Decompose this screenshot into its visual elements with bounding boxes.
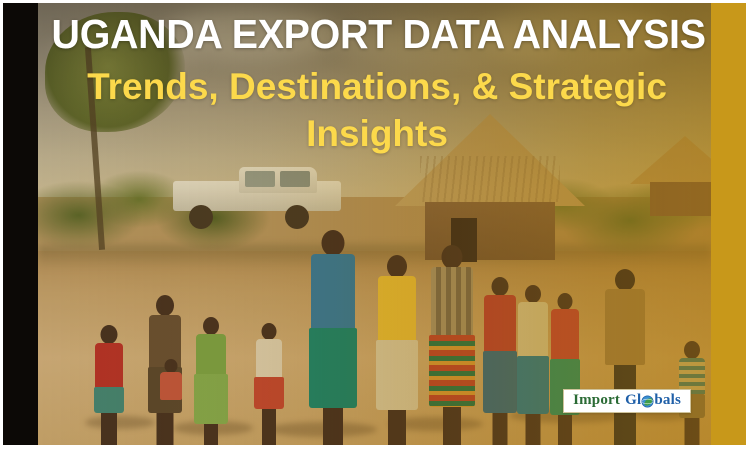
person-torso xyxy=(551,309,579,361)
person-garment xyxy=(483,351,517,413)
slide-frame: UGANDA EXPORT DATA ANALYSIS Trends, Dest… xyxy=(3,3,746,445)
person-head xyxy=(262,323,277,340)
thatched-hut-small xyxy=(630,136,711,216)
hut-roof xyxy=(395,114,585,206)
person-torso xyxy=(431,267,473,337)
person-figure xyxy=(482,277,518,445)
vegetation-layer xyxy=(38,136,711,269)
person-legs xyxy=(323,408,343,445)
person-figure xyxy=(253,323,285,445)
person-garment xyxy=(254,377,284,409)
person-garment xyxy=(94,387,124,413)
pickup-truck xyxy=(173,167,341,229)
person-torso xyxy=(311,254,355,330)
globe-icon xyxy=(641,395,654,408)
person-figure-baby xyxy=(159,359,183,445)
truck-window xyxy=(280,171,310,187)
right-gold-band xyxy=(711,3,746,445)
person-torso xyxy=(518,302,548,358)
person-head xyxy=(615,269,635,291)
person-legs xyxy=(558,415,572,445)
truck-window xyxy=(245,171,275,187)
cloud-shape xyxy=(482,5,672,65)
person-head xyxy=(684,341,700,359)
person-head xyxy=(203,317,219,335)
person-torso xyxy=(484,295,516,353)
person-legs xyxy=(204,424,218,445)
person-head xyxy=(100,325,117,344)
person-torso xyxy=(605,289,645,365)
person-garment xyxy=(309,328,357,408)
person-legs xyxy=(525,414,540,445)
person-head xyxy=(322,230,345,256)
person-garment xyxy=(429,335,475,407)
person-garment xyxy=(194,374,228,424)
truck-wheel xyxy=(285,205,309,229)
person-torso xyxy=(196,334,226,376)
person-legs xyxy=(388,410,406,445)
person-torso xyxy=(378,276,416,342)
person-figure xyxy=(375,255,419,445)
person-head xyxy=(525,285,541,303)
logo-word-import: Import xyxy=(573,393,620,408)
import-globals-logo[interactable]: Import Gl bals xyxy=(563,389,691,413)
person-garment xyxy=(517,356,549,414)
logo-globals-suffix: bals xyxy=(654,393,681,408)
person-garment xyxy=(376,340,418,410)
truck-wheel xyxy=(189,205,213,229)
person-torso xyxy=(95,343,123,389)
person-legs xyxy=(101,413,117,445)
left-black-band xyxy=(3,3,38,445)
person-legs xyxy=(262,409,276,445)
person-figure xyxy=(549,293,581,445)
hut-wall xyxy=(650,182,711,216)
person-figure xyxy=(92,325,126,445)
person-figure xyxy=(193,317,229,445)
logo-word-globals: Gl bals xyxy=(625,393,681,408)
person-head xyxy=(442,245,463,269)
person-legs xyxy=(443,407,461,445)
presentation-slide: UGANDA EXPORT DATA ANALYSIS Trends, Dest… xyxy=(0,0,750,450)
thatched-hut xyxy=(395,114,585,254)
hut-roof xyxy=(630,136,711,184)
person-torso xyxy=(256,339,282,379)
person-legs xyxy=(685,418,700,445)
person-head xyxy=(165,359,178,373)
person-legs xyxy=(493,413,508,445)
person-torso xyxy=(160,372,182,400)
person-figure-walking xyxy=(603,269,647,445)
person-head xyxy=(156,295,174,316)
person-head xyxy=(558,293,573,310)
logo-globals-prefix: Gl xyxy=(625,393,641,408)
person-figure xyxy=(307,230,359,445)
person-figure xyxy=(516,285,550,445)
person-figure xyxy=(428,245,476,445)
background-photo xyxy=(38,3,711,445)
person-head xyxy=(492,277,509,296)
person-head xyxy=(387,255,407,278)
